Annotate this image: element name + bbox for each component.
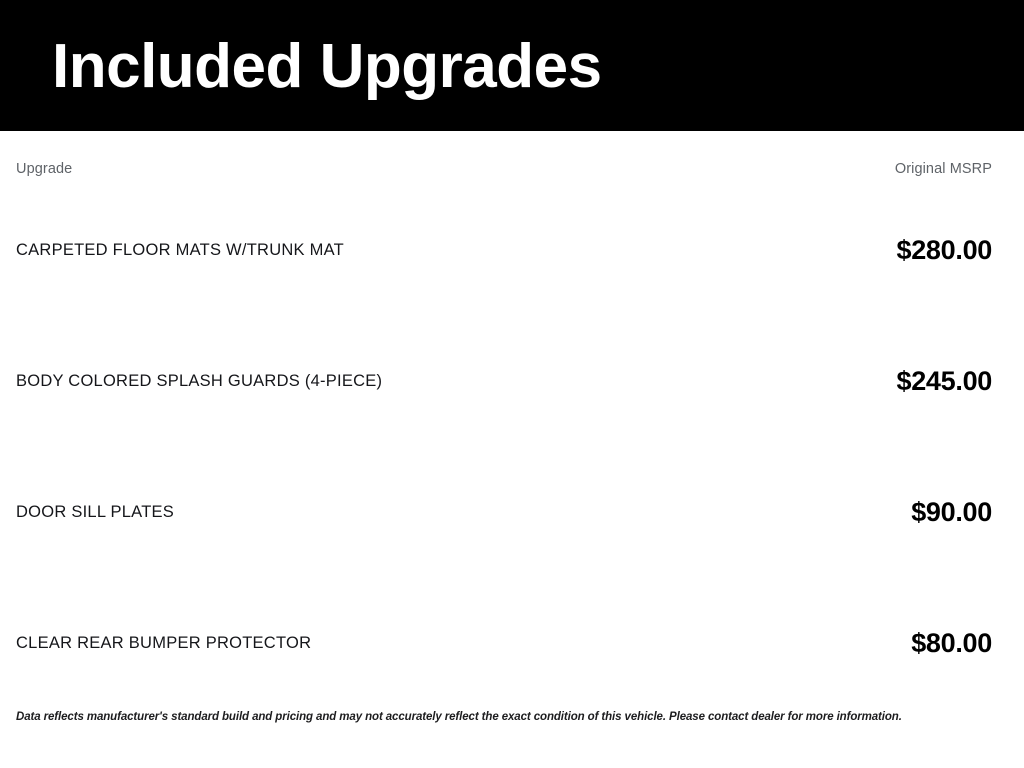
table-row: CARPETED FLOOR MATS W/TRUNK MAT $280.00: [16, 227, 992, 273]
table-row: CLEAR REAR BUMPER PROTECTOR $80.00: [16, 620, 992, 666]
column-header-original-msrp: Original MSRP: [895, 160, 992, 178]
column-header-upgrade: Upgrade: [16, 160, 72, 178]
table-row: DOOR SILL PLATES $90.00: [16, 489, 992, 535]
upgrade-name: BODY COLORED SPLASH GUARDS (4-PIECE): [16, 370, 382, 392]
upgrade-price: $80.00: [911, 627, 992, 659]
upgrade-name: CLEAR REAR BUMPER PROTECTOR: [16, 632, 311, 654]
upgrades-row-list: CARPETED FLOOR MATS W/TRUNK MAT $280.00 …: [16, 227, 992, 666]
included-upgrades-page: Included Upgrades Upgrade Original MSRP …: [0, 0, 1024, 768]
table-row: BODY COLORED SPLASH GUARDS (4-PIECE) $24…: [16, 358, 992, 404]
page-header-band: Included Upgrades: [0, 0, 1024, 131]
upgrade-price: $90.00: [911, 496, 992, 528]
upgrade-name: CARPETED FLOOR MATS W/TRUNK MAT: [16, 239, 344, 261]
upgrade-price: $245.00: [897, 365, 993, 397]
upgrade-name: DOOR SILL PLATES: [16, 501, 174, 523]
page-title: Included Upgrades: [52, 31, 602, 103]
table-column-headers: Upgrade Original MSRP: [16, 160, 992, 178]
disclaimer-text: Data reflects manufacturer's standard bu…: [16, 710, 992, 725]
upgrades-table: Upgrade Original MSRP CARPETED FLOOR MAT…: [0, 131, 1024, 768]
upgrade-price: $280.00: [897, 234, 993, 266]
